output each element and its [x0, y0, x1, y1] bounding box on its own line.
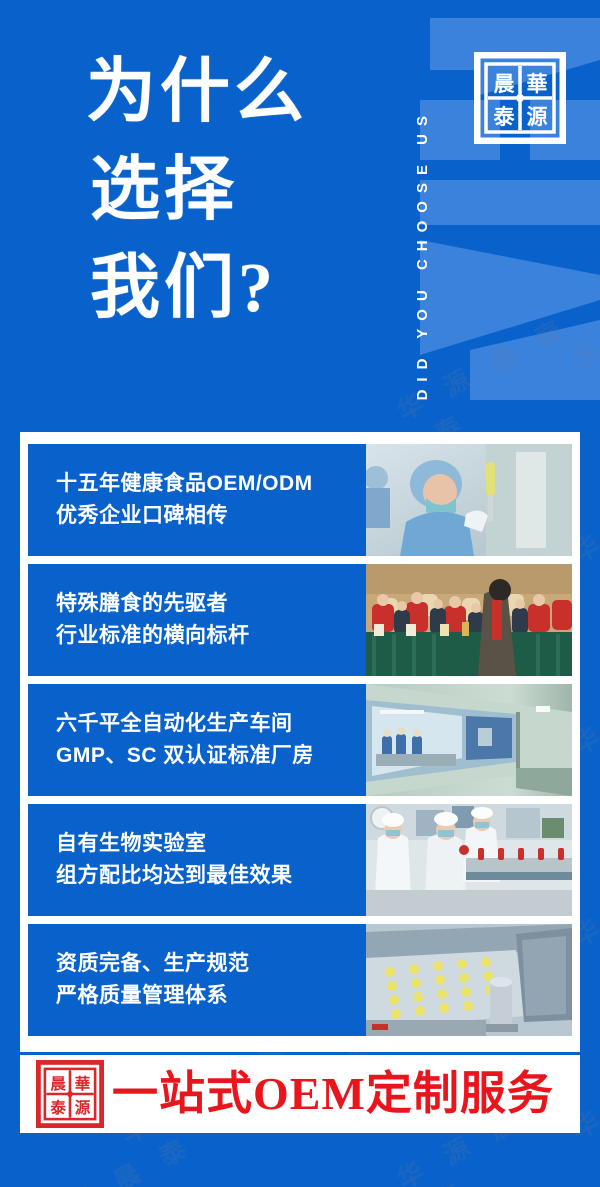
feature-card-line-1: 特殊膳食的先驱者	[56, 588, 358, 620]
feature-card-line-2: 优秀企业口碑相传	[56, 500, 358, 532]
feature-card-text: 资质完备、生产规范 严格质量管理体系	[28, 924, 366, 1036]
headline-line-1: 为什么	[86, 44, 308, 142]
production-line-workers-photo	[366, 804, 572, 916]
brand-seal-icon-top: 晨 華 泰 源	[474, 52, 566, 144]
headline-line-2: 选择	[86, 142, 308, 240]
feature-card[interactable]: 特殊膳食的先驱者 行业标准的横向标杆	[28, 564, 572, 676]
feature-card-text: 自有生物实验室 组方配比均达到最佳效果	[28, 804, 366, 916]
svg-text:華: 華	[527, 72, 548, 96]
bottom-cta-banner[interactable]: 晨 華 泰 源 一站式OEM定制服务	[20, 1055, 580, 1133]
feature-card-line-1: 自有生物实验室	[56, 828, 358, 860]
conference-audience-photo	[366, 564, 572, 676]
feature-card-line-2: 行业标准的横向标杆	[56, 620, 358, 652]
headline-line-3: 我们?	[86, 240, 308, 338]
svg-text:源: 源	[75, 1098, 91, 1117]
feature-card-line-1: 十五年健康食品OEM/ODM	[56, 468, 358, 500]
svg-text:華: 華	[75, 1074, 91, 1093]
headline-block: 为什么 选择 我们?	[86, 44, 308, 338]
feature-card-line-2: 严格质量管理体系	[56, 980, 358, 1012]
svg-text:源: 源	[527, 105, 548, 129]
feature-card-line-1: 资质完备、生产规范	[56, 948, 358, 980]
vertical-english-text: DID YOU CHOOSE US	[405, 20, 439, 400]
svg-text:泰: 泰	[49, 1098, 66, 1117]
feature-card-line-2: GMP、SC 双认证标准厂房	[56, 740, 358, 772]
feature-card-line-1: 六千平全自动化生产车间	[56, 708, 358, 740]
feature-card-text: 十五年健康食品OEM/ODM 优秀企业口碑相传	[28, 444, 366, 556]
cta-banner-text: 一站式OEM定制服务	[112, 1071, 554, 1117]
brand-seal-icon-bottom: 晨 華 泰 源	[36, 1060, 104, 1128]
blister-packing-machine-photo	[366, 924, 572, 1036]
cleanroom-corridor-photo	[366, 684, 572, 796]
svg-text:晨: 晨	[50, 1075, 66, 1093]
svg-text:泰: 泰	[493, 105, 516, 129]
poster-root: 为什么 选择 我们? DID YOU CHOOSE US 晨 華 泰 源 十五年…	[0, 0, 600, 1187]
feature-card[interactable]: 自有生物实验室 组方配比均达到最佳效果	[28, 804, 572, 916]
feature-cards-list: 十五年健康食品OEM/ODM 优秀企业口碑相传	[28, 444, 572, 1044]
feature-card-text: 六千平全自动化生产车间 GMP、SC 双认证标准厂房	[28, 684, 366, 796]
feature-card[interactable]: 资质完备、生产规范 严格质量管理体系	[28, 924, 572, 1036]
feature-card[interactable]: 十五年健康食品OEM/ODM 优秀企业口碑相传	[28, 444, 572, 556]
feature-card[interactable]: 六千平全自动化生产车间 GMP、SC 双认证标准厂房	[28, 684, 572, 796]
vertical-english-label: DID YOU CHOOSE US	[414, 108, 431, 400]
lab-technician-photo	[366, 444, 572, 556]
feature-card-line-2: 组方配比均达到最佳效果	[56, 860, 358, 892]
svg-text:晨: 晨	[494, 72, 516, 96]
feature-card-text: 特殊膳食的先驱者 行业标准的横向标杆	[28, 564, 366, 676]
